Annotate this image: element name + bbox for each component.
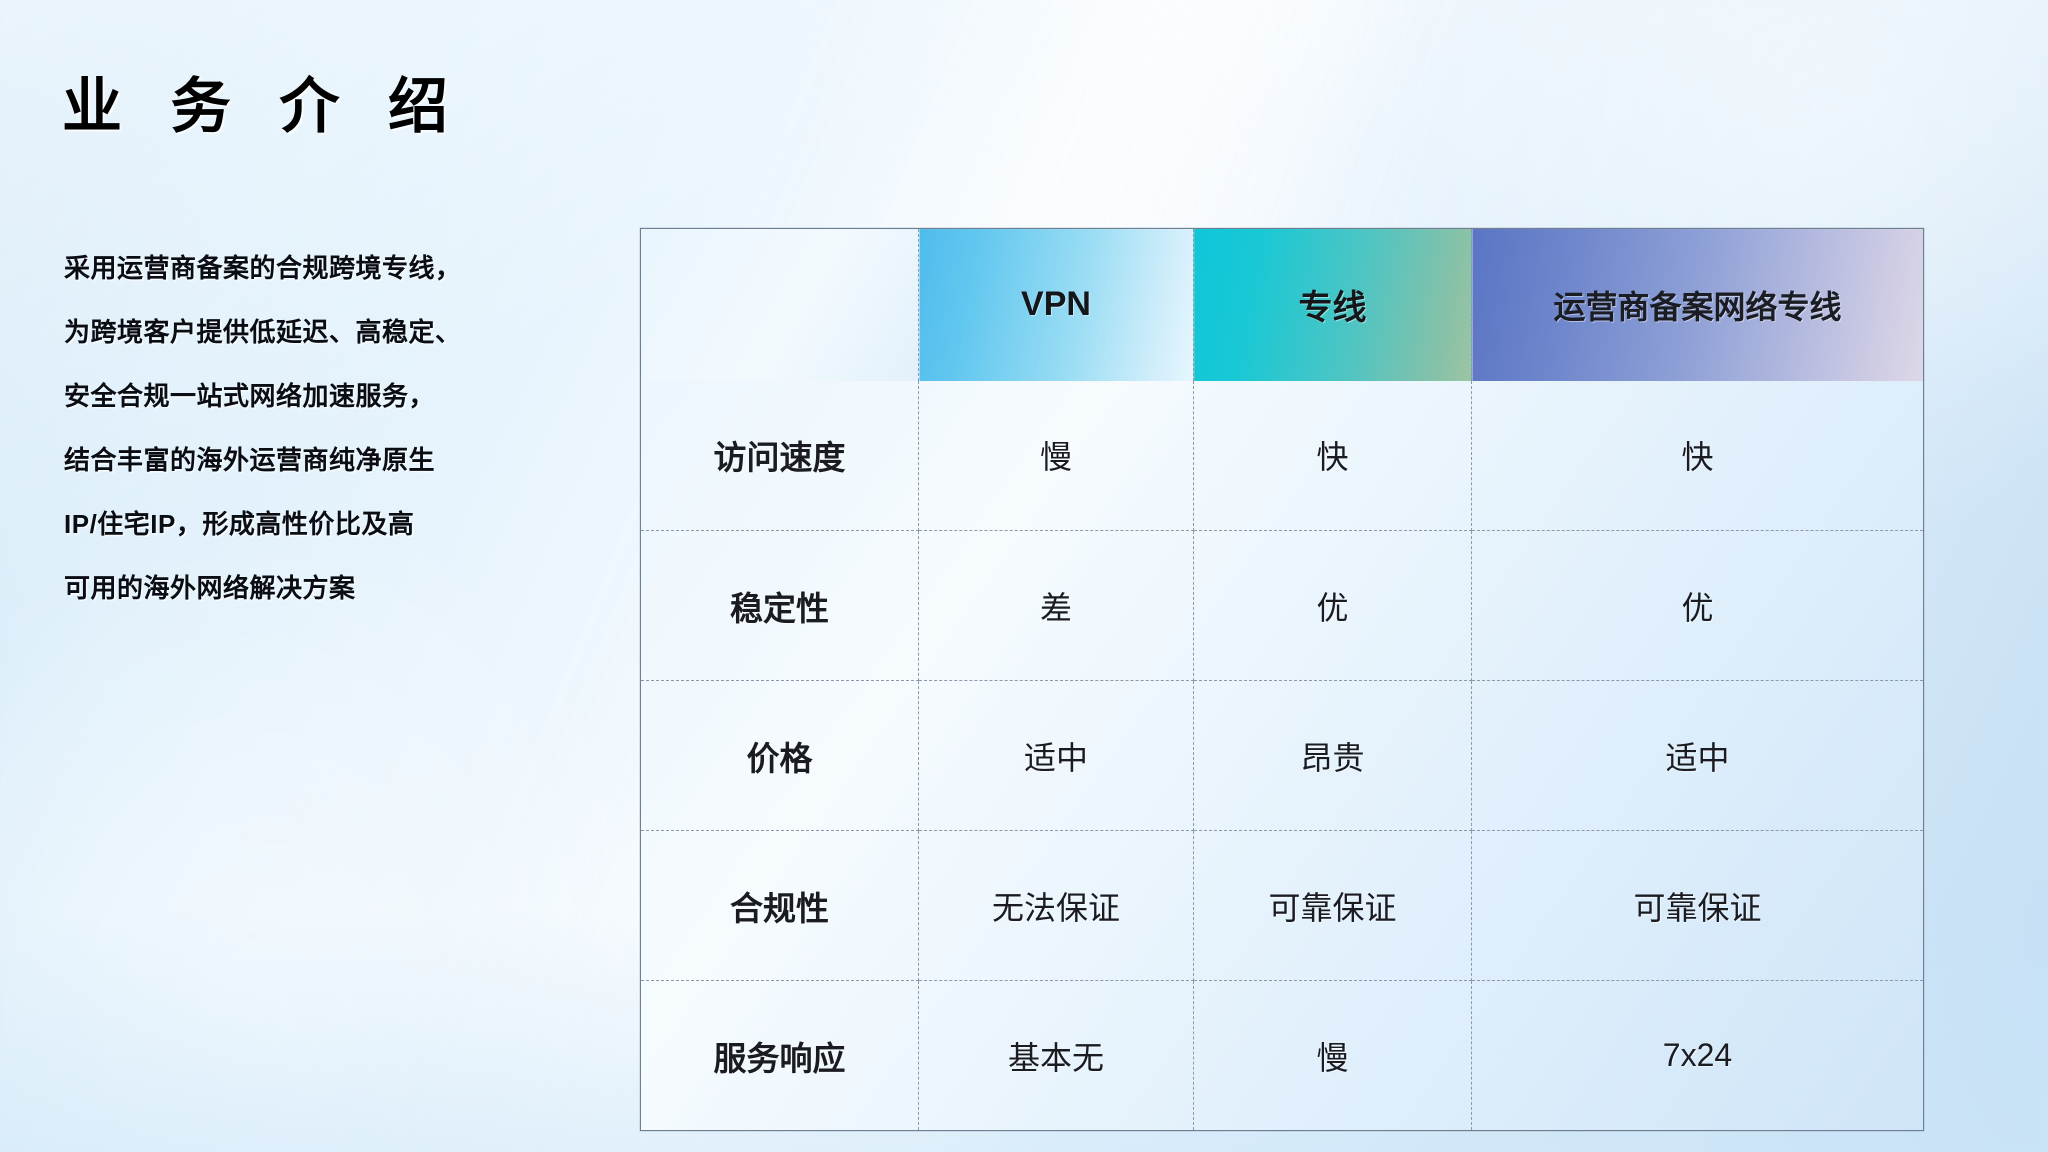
row-label-price: 价格: [641, 681, 919, 831]
cell-dedicated-line: 可靠保证: [1194, 831, 1472, 981]
table-header-row: VPN 专线 运营商备案网络专线: [641, 229, 1924, 381]
table-header: VPN 专线 运营商备案网络专线: [641, 229, 1924, 381]
header-blank: [641, 229, 919, 381]
cell-carrier-line: 可靠保证: [1472, 831, 1924, 981]
table-row: 访问速度 慢 快 快: [641, 381, 1924, 531]
row-label-stability: 稳定性: [641, 531, 919, 681]
intro-line: 为跨境客户提供低延迟、高稳定、: [64, 300, 664, 364]
cell-dedicated-line: 快: [1194, 381, 1472, 531]
intro-line: 结合丰富的海外运营商纯净原生: [64, 428, 664, 492]
cell-carrier-line: 7x24: [1472, 981, 1924, 1131]
intro-line: 采用运营商备案的合规跨境专线，: [64, 236, 664, 300]
header-dedicated-line: 专线: [1194, 229, 1472, 381]
header-vpn: VPN: [919, 229, 1194, 381]
cell-carrier-line: 快: [1472, 381, 1924, 531]
cell-dedicated-line: 慢: [1194, 981, 1472, 1131]
cell-vpn: 适中: [919, 681, 1194, 831]
table-body: 访问速度 慢 快 快 稳定性 差 优 优 价格 适中 昂贵 适中 合规性 无法保…: [641, 381, 1924, 1131]
cell-dedicated-line: 优: [1194, 531, 1472, 681]
intro-paragraph: 采用运营商备案的合规跨境专线， 为跨境客户提供低延迟、高稳定、 安全合规一站式网…: [64, 236, 664, 620]
row-label-access-speed: 访问速度: [641, 381, 919, 531]
cell-vpn: 无法保证: [919, 831, 1194, 981]
comparison-table: VPN 专线 运营商备案网络专线 访问速度 慢 快 快 稳定性 差 优 优 价格…: [640, 228, 1924, 1131]
cell-dedicated-line: 昂贵: [1194, 681, 1472, 831]
table-row: 合规性 无法保证 可靠保证 可靠保证: [641, 831, 1924, 981]
header-carrier-registered-line: 运营商备案网络专线: [1472, 229, 1924, 381]
table-row: 价格 适中 昂贵 适中: [641, 681, 1924, 831]
cell-carrier-line: 优: [1472, 531, 1924, 681]
cell-vpn: 慢: [919, 381, 1194, 531]
intro-line: IP/住宅IP，形成高性价比及高: [64, 492, 664, 556]
cell-vpn: 基本无: [919, 981, 1194, 1131]
row-label-service-response: 服务响应: [641, 981, 919, 1131]
intro-line: 可用的海外网络解决方案: [64, 556, 664, 620]
intro-line: 安全合规一站式网络加速服务，: [64, 364, 664, 428]
table-row: 服务响应 基本无 慢 7x24: [641, 981, 1924, 1131]
row-label-compliance: 合规性: [641, 831, 919, 981]
cell-carrier-line: 适中: [1472, 681, 1924, 831]
page-title: 业 务 介 绍: [62, 58, 464, 145]
table-row: 稳定性 差 优 优: [641, 531, 1924, 681]
cell-vpn: 差: [919, 531, 1194, 681]
